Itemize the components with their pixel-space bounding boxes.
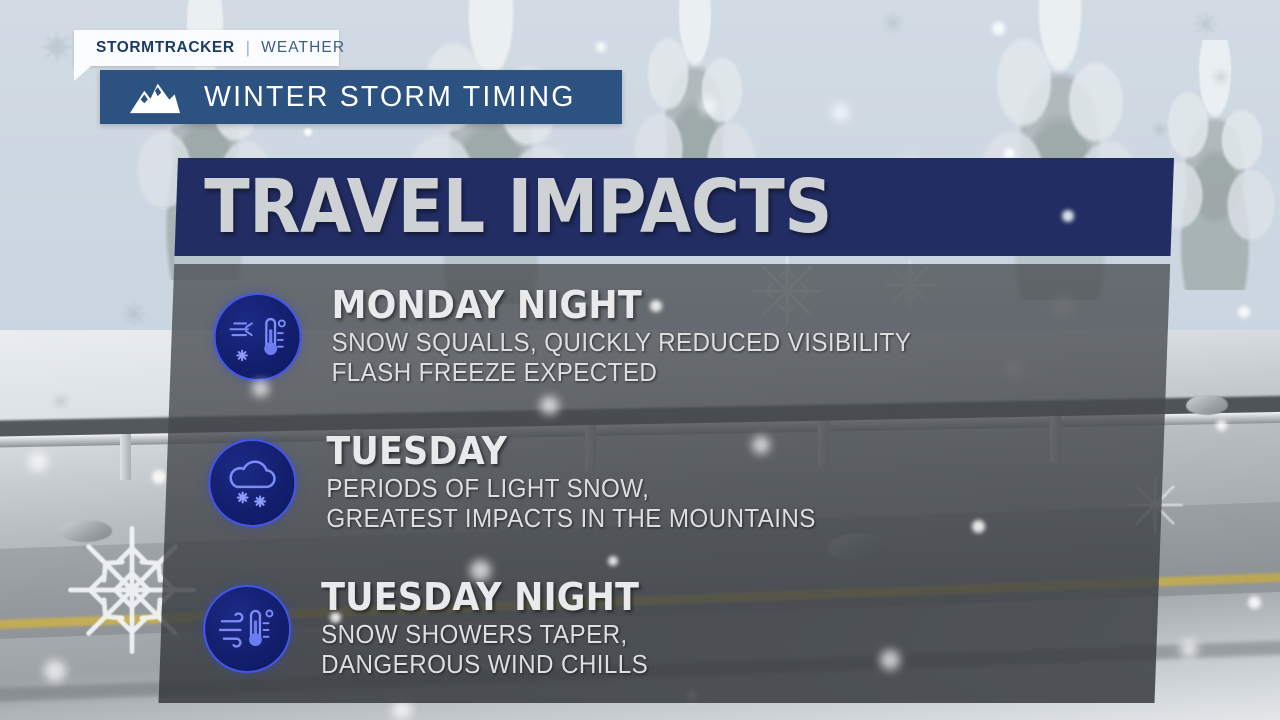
snow-speck	[1216, 420, 1227, 431]
snow-speck	[392, 700, 412, 720]
decorative-snowflake	[120, 300, 148, 328]
travel-impacts-card: TRAVEL IMPACTS	[158, 158, 1174, 703]
stormtracker-brand-bar: STORMTRACKER | WEATHER	[74, 30, 339, 66]
row-text-block: TUESDAY PERIODS OF LIGHT SNOW, GREATEST …	[326, 432, 841, 534]
weather-graphic: STORMTRACKER | WEATHER WINTER STORM TIMI…	[0, 0, 1280, 720]
winter-storm-timing-bar: WINTER STORM TIMING	[100, 70, 622, 124]
row-text-block: TUESDAY NIGHT SNOW SHOWERS TAPER, DANGER…	[321, 578, 667, 680]
row-detail-line: FLASH FREEZE EXPECTED	[332, 358, 912, 388]
snow-speck	[28, 452, 48, 472]
snow-speck	[304, 128, 312, 136]
row-detail-line: GREATEST IMPACTS IN THE MOUNTAINS	[326, 504, 815, 534]
cloud-snow-icon	[208, 439, 296, 527]
row-detail-line: SNOW SHOWERS TAPER,	[321, 620, 649, 650]
snow-speck	[832, 104, 849, 121]
snow-speck	[44, 660, 66, 682]
wind-chill-thermometer-icon	[203, 585, 291, 673]
snow-squall-thermometer-icon	[214, 293, 302, 381]
snow-speck	[596, 42, 606, 52]
card-headline-bar: TRAVEL IMPACTS	[174, 158, 1174, 256]
snow-speck	[1248, 596, 1261, 609]
page-title: TRAVEL IMPACTS	[204, 164, 832, 250]
decorative-snowflake	[50, 390, 72, 412]
list-item: MONDAY NIGHT SNOW SQUALLS, QUICKLY REDUC…	[169, 264, 1170, 410]
snow-speck	[992, 22, 1005, 35]
decorative-snowflake	[1192, 10, 1220, 38]
rock	[1186, 395, 1228, 415]
row-detail-line: PERIODS OF LIGHT SNOW,	[326, 474, 815, 504]
row-detail-line: DANGEROUS WIND CHILLS	[321, 650, 649, 680]
title-bar-label: WINTER STORM TIMING	[204, 81, 576, 114]
snow-speck	[1180, 640, 1198, 658]
list-item: TUESDAY NIGHT SNOW SHOWERS TAPER, DANGER…	[159, 556, 1160, 702]
row-title: TUESDAY NIGHT	[321, 578, 639, 617]
snow-speck	[1238, 306, 1250, 318]
brand-primary-label: STORMTRACKER	[96, 39, 235, 57]
brand-bar-tail	[74, 66, 91, 81]
row-title: MONDAY NIGHT	[332, 286, 893, 325]
brand-secondary-label: WEATHER	[261, 39, 345, 57]
decorative-snowflake	[880, 10, 906, 36]
row-text-block: MONDAY NIGHT SNOW SQUALLS, QUICKLY REDUC…	[332, 286, 942, 388]
guardrail-post	[120, 434, 131, 480]
mountain-icon	[128, 80, 182, 114]
decorative-snowflake	[40, 30, 74, 64]
snow-speck	[152, 470, 166, 484]
list-item: TUESDAY PERIODS OF LIGHT SNOW, GREATEST …	[164, 410, 1165, 556]
card-divider	[174, 256, 1170, 264]
brand-divider: |	[246, 38, 250, 58]
decorative-snowflake	[1210, 66, 1232, 88]
card-body-panel: MONDAY NIGHT SNOW SQUALLS, QUICKLY REDUC…	[158, 264, 1170, 703]
snow-speck	[700, 98, 716, 114]
row-detail-line: SNOW SQUALLS, QUICKLY REDUCED VISIBILITY	[332, 328, 912, 358]
decorative-snowflake	[1150, 120, 1170, 140]
row-title: TUESDAY	[326, 432, 800, 471]
